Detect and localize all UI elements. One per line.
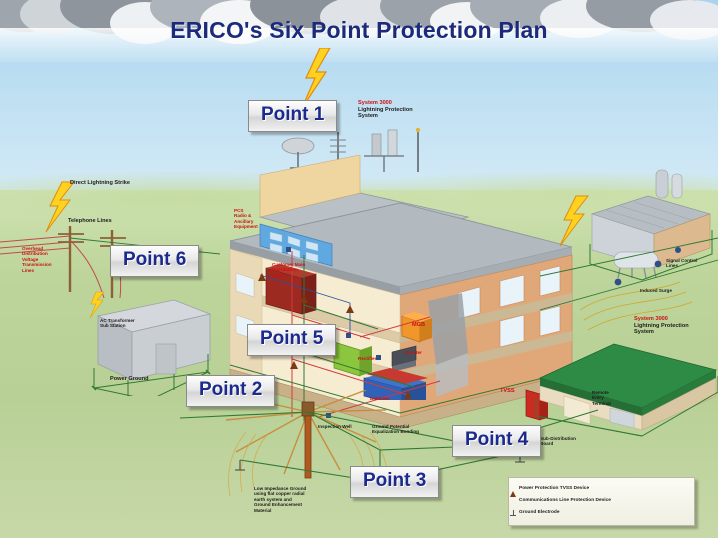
annotation-pcs-radio: PCS Radio & Ancillary Equipment xyxy=(234,208,258,230)
legend-row-ground: Ground Electrode xyxy=(519,510,560,516)
annotation-mgb: MGB xyxy=(412,322,425,328)
annotation-system3000-top-red: System 3000 xyxy=(358,100,392,106)
legend-box: Power Protection TVSS Device Communicati… xyxy=(508,477,695,526)
annotation-ground-potential: Ground Potential Equalization Bonding xyxy=(372,424,419,435)
ground-electrode-icon xyxy=(510,510,517,517)
diagram-canvas: ERICO's Six Point Protection Plan xyxy=(0,0,718,538)
annotation-inspection-well: Inspection Well xyxy=(318,424,352,429)
annotation-customer-main-panel: Customer Main Distribution Panel xyxy=(272,262,305,278)
annotation-batteries: Batteries xyxy=(370,396,390,401)
annotation-system3000-top-dark: Lightning Protection System xyxy=(358,107,413,120)
annotation-system3000-right-dark: Lightning Protection System xyxy=(634,323,689,336)
annotation-tvss: TVSS xyxy=(500,388,515,394)
right-surge-paths xyxy=(540,190,718,420)
annotation-sub-distribution-board: Sub-Distribution Board xyxy=(540,436,576,447)
legend-label-tvss: Power Protection TVSS Device xyxy=(519,486,589,491)
annotation-ac-transformer: AC Transformer Sub Station xyxy=(100,318,135,329)
legend-row-tvss: Power Protection TVSS Device xyxy=(519,486,589,492)
annotation-rectifier: Rectifier xyxy=(358,356,376,361)
callout-point-4[interactable]: Point 4 xyxy=(452,425,541,457)
page-title: ERICO's Six Point Protection Plan xyxy=(0,17,718,44)
callout-point-6[interactable]: Point 6 xyxy=(110,245,199,277)
annotation-signal-control-lines: Signal Control Lines xyxy=(666,258,697,269)
callout-point-1[interactable]: Point 1 xyxy=(248,100,337,132)
annotation-system3000-right-red: System 3000 xyxy=(634,316,668,322)
annotation-telephone-lines: Telephone Lines xyxy=(68,218,112,224)
legend-label-comms: Communications Line Protection Device xyxy=(519,498,611,503)
annotation-overhead-lines: Overhead Distribution Voltage Transmissi… xyxy=(22,246,52,273)
annotation-low-impedance-ground: Low Impedance Ground using flat copper r… xyxy=(254,486,306,513)
square-comms-icon xyxy=(510,498,517,505)
annotation-direct-lightning-strike: Direct Lightning Strike xyxy=(70,180,130,186)
legend-label-ground: Ground Electrode xyxy=(519,510,560,515)
callout-point-5[interactable]: Point 5 xyxy=(247,324,336,356)
annotation-remote-entry-terminal: Remote Entry Terminal xyxy=(592,390,611,406)
callout-point-3[interactable]: Point 3 xyxy=(350,466,439,498)
legend-row-comms: Communications Line Protection Device xyxy=(519,498,611,504)
callout-point-2[interactable]: Point 2 xyxy=(186,375,275,407)
triangle-tvss-icon xyxy=(510,486,517,493)
annotation-power-ground: Power Ground xyxy=(110,376,149,382)
annotation-induced-surge: Induced Surge xyxy=(640,288,672,293)
lightning-bolt-main-icon xyxy=(300,48,334,108)
annotation-inverter: Inverter xyxy=(405,350,422,355)
